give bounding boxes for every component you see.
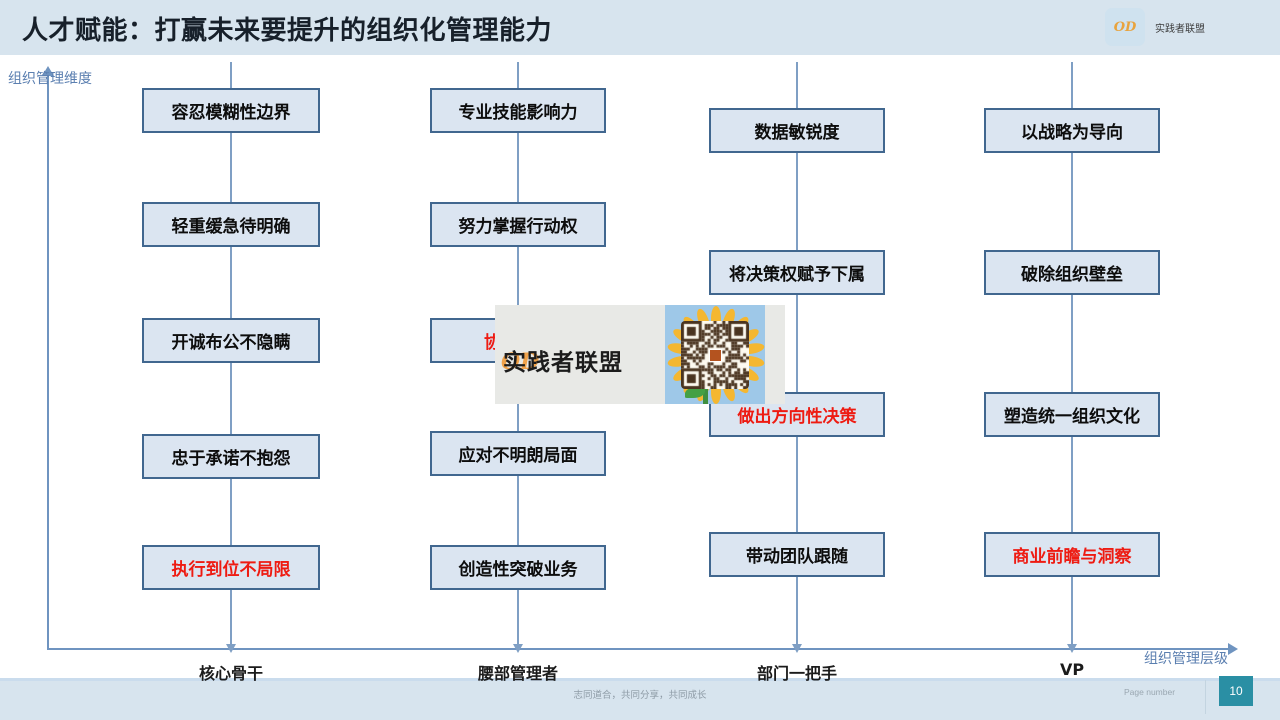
capability-node[interactable]: 破除组织壁垒 [984, 250, 1160, 295]
capability-node[interactable]: 执行到位不局限 [142, 545, 320, 590]
od-logo-icon: OD [1105, 8, 1145, 46]
x-axis-line [47, 648, 1232, 650]
column-label-3: VP [1060, 660, 1084, 679]
column-label-2: 部门一把手 [757, 660, 837, 684]
brand-name-label: 实践者联盟 [1155, 20, 1205, 35]
capability-node[interactable]: 商业前瞻与洞察 [984, 532, 1160, 577]
page-title: 人才赋能：打赢未来要提升的组织化管理能力 [22, 8, 552, 48]
column-label-0: 核心骨干 [199, 660, 263, 684]
capability-node[interactable]: 专业技能影响力 [430, 88, 606, 133]
column-arrow-icon [1067, 644, 1077, 653]
watermark-overlay: OD 实践者联盟 [495, 305, 785, 404]
capability-node[interactable]: 数据敏锐度 [709, 108, 885, 153]
capability-node[interactable]: 忠于承诺不抱怨 [142, 434, 320, 479]
capability-node[interactable]: 塑造统一组织文化 [984, 392, 1160, 437]
od-logo-text: OD [1114, 20, 1137, 35]
page-number-badge: 10 [1219, 676, 1253, 706]
capability-node[interactable]: 努力掌握行动权 [430, 202, 606, 247]
capability-node[interactable]: 带动团队跟随 [709, 532, 885, 577]
footer-divider [1205, 680, 1206, 714]
column-arrow-icon [226, 644, 236, 653]
page-number-label: Page number [1124, 687, 1175, 697]
capability-node[interactable]: 创造性突破业务 [430, 545, 606, 590]
capability-node[interactable]: 开诚布公不隐瞒 [142, 318, 320, 363]
footer-band-divider [0, 678, 1280, 681]
qr-code-icon [681, 321, 749, 389]
capability-node[interactable]: 以战略为导向 [984, 108, 1160, 153]
watermark-qr-panel [665, 305, 765, 404]
y-axis-line [47, 72, 49, 650]
watermark-text: 实践者联盟 [503, 343, 623, 377]
column-label-1: 腰部管理者 [478, 660, 558, 684]
footer-tagline: 志同道合，共同分享，共同成长 [573, 687, 706, 701]
column-arrow-icon [792, 644, 802, 653]
capability-node[interactable]: 应对不明朗局面 [430, 431, 606, 476]
capability-node[interactable]: 容忍模糊性边界 [142, 88, 320, 133]
title-text: 人才赋能：打赢未来要提升的组织化管理能力 [22, 10, 552, 47]
brand-logo: OD 实践者联盟 [1105, 8, 1205, 46]
column-arrow-icon [513, 644, 523, 653]
x-axis-label: 组织管理层级 [1144, 648, 1228, 668]
capability-node[interactable]: 将决策权赋予下属 [709, 250, 885, 295]
capability-node[interactable]: 轻重缓急待明确 [142, 202, 320, 247]
y-axis-label: 组织管理维度 [8, 68, 92, 88]
qr-center-logo-icon [709, 349, 722, 362]
x-axis-arrow-icon [1228, 643, 1238, 655]
slide-canvas: 人才赋能：打赢未来要提升的组织化管理能力 OD 实践者联盟 组织管理维度 组织管… [0, 0, 1280, 720]
